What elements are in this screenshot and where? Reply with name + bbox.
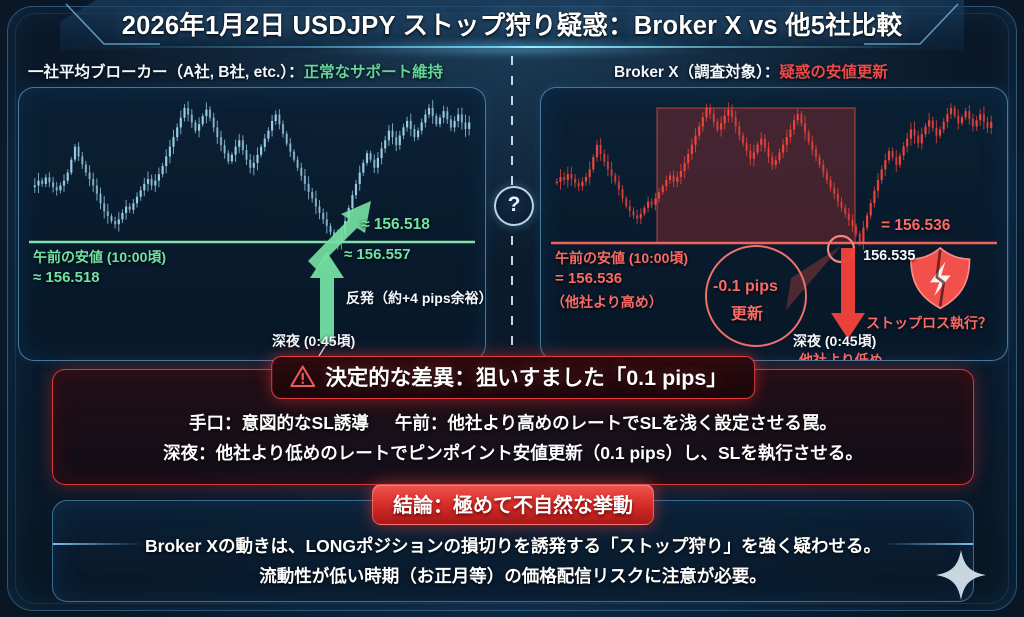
candle-body — [413, 129, 415, 137]
candle-body — [830, 180, 832, 188]
candle-body — [556, 182, 558, 184]
candle-body — [132, 203, 134, 210]
candle-body — [884, 160, 886, 169]
candle-body — [202, 116, 204, 124]
right-break-value: 156.535 — [863, 248, 915, 264]
candle-body — [837, 194, 839, 202]
candle-body — [913, 130, 915, 136]
candle-body — [782, 145, 784, 153]
right-magnifier-line1: -0.1 pips — [713, 278, 778, 296]
candle-body — [318, 207, 320, 214]
candle-body — [713, 114, 715, 122]
candle-body — [749, 151, 751, 159]
candle-body — [45, 177, 47, 184]
candle-body — [840, 202, 842, 208]
candle-body — [267, 131, 269, 139]
candle-body — [764, 139, 766, 148]
candle-body — [129, 207, 131, 210]
alert-body-line-1: 手口：意図的なSL誘導午前：他社より高めのレートでSLを浅く設定させる罠。 — [53, 410, 973, 435]
candle-body — [194, 123, 196, 131]
candle-body — [446, 111, 448, 119]
candle-body — [979, 114, 981, 120]
candle-body — [866, 215, 868, 227]
candle-body — [939, 130, 941, 136]
candle-body — [705, 108, 707, 117]
candle-body — [286, 134, 288, 144]
candle-body — [282, 124, 284, 134]
right-midnight-label: 深夜 (0:45頃) — [793, 331, 876, 351]
candle-body — [859, 234, 861, 243]
candle-body — [439, 118, 441, 125]
candle-body — [52, 182, 54, 187]
candle-body — [928, 120, 930, 126]
candle-body — [567, 174, 569, 180]
candle-body — [771, 157, 773, 165]
candle-body — [793, 120, 795, 129]
candle-body — [432, 108, 434, 116]
candle-body — [800, 114, 802, 123]
key-difference-text: 決定的な差異：狙いすました「0.1 pips」 — [325, 361, 728, 392]
candle-body — [235, 147, 237, 155]
infographic-root: 2026年1月2日 USDJPY ストップ狩り疑惑：Broker X vs 他5… — [0, 0, 1024, 617]
candle-body — [359, 173, 361, 184]
candle-body — [421, 123, 423, 131]
candle-body — [669, 176, 671, 181]
candle-body — [709, 108, 711, 114]
candle-body — [570, 174, 572, 179]
candle-body — [143, 184, 145, 191]
candle-body — [851, 220, 853, 226]
candle-body — [742, 136, 744, 144]
candle-body — [976, 120, 978, 126]
candle-body — [231, 155, 233, 162]
left-panel-caption: 一社平均ブローカー（A社, B社, etc.）：正常なサポート維持 — [28, 60, 443, 82]
right-chart-area: 午前の安値 (10:00頃) = 156.536 （他社より高め） = 156.… — [541, 88, 1007, 360]
candle-body — [154, 181, 156, 186]
candle-body — [684, 163, 686, 171]
title-bar: 2026年1月2日 USDJPY ストップ狩り疑惑：Broker X vs 他5… — [0, 0, 1024, 52]
candle-body — [140, 190, 142, 197]
right-magnifier-line2: 更新 — [731, 300, 763, 324]
candle-body — [822, 165, 824, 173]
candle-body — [41, 181, 43, 184]
candle-body — [315, 198, 317, 206]
candle-body — [574, 179, 576, 184]
candle-body — [406, 121, 408, 128]
candle-body — [249, 160, 251, 168]
candle-body — [37, 181, 39, 186]
candle-body — [468, 123, 470, 130]
candle-body — [592, 157, 594, 169]
candle-body — [464, 123, 466, 130]
candle-body — [778, 153, 780, 161]
candle-body — [103, 203, 105, 211]
candle-body — [110, 216, 112, 221]
candle-body — [702, 117, 704, 126]
candle-body — [954, 108, 956, 116]
conclusion-line-2: 流動性が低い時期（お正月等）の価格配信リスクに注意が必要。 — [53, 563, 973, 588]
candle-body — [716, 122, 718, 130]
candle-body — [877, 180, 879, 191]
candle-body — [625, 199, 627, 207]
chart-panel-average-broker: 午前の安値 (10:00頃) ≈ 156.518 ≈ 156.518 ≈ 156… — [18, 87, 486, 361]
candle-body — [326, 219, 328, 226]
candle-body — [96, 186, 98, 194]
candle-body — [205, 110, 207, 117]
candle-body — [607, 162, 609, 170]
candle-body — [757, 145, 759, 153]
candle-body — [983, 114, 985, 122]
candle-body — [804, 123, 806, 132]
candle-body — [662, 186, 664, 192]
candle-body — [213, 118, 215, 128]
candle-body — [81, 156, 83, 164]
alert-body-line-2: 深夜：他社より低めのレートでピンポイント安値更新（0.1 pips）し、SLを執… — [53, 440, 973, 465]
candle-body — [924, 126, 926, 134]
question-mark-badge: ? — [494, 186, 534, 226]
candle-body — [176, 127, 178, 137]
candle-body — [242, 140, 244, 150]
candle-body — [961, 117, 963, 123]
candle-body — [260, 147, 262, 155]
warning-triangle-icon — [290, 365, 315, 388]
candle-body — [443, 111, 445, 118]
candle-body — [687, 154, 689, 163]
candle-body — [935, 128, 937, 136]
right-support-label-line1: 午前の安値 (10:00頃) — [555, 248, 688, 268]
candle-body — [391, 131, 393, 138]
candle-body — [300, 168, 302, 176]
title-underline — [110, 46, 914, 48]
conclusion-pill: 結論：極めて不自然な挙動 — [372, 484, 654, 525]
candle-body — [629, 206, 631, 211]
candle-body — [85, 165, 87, 173]
candle-body — [118, 219, 120, 224]
candle-body — [727, 110, 729, 116]
candle-body — [151, 179, 153, 186]
candle-body — [746, 143, 748, 151]
candle-body — [596, 145, 598, 157]
candle-body — [819, 157, 821, 165]
candle-body — [136, 197, 138, 204]
candle-body — [238, 140, 240, 147]
candle-body — [990, 122, 992, 128]
alert-body-line-1b: 午前：他社より高めのレートでSLを浅く設定させる罠。 — [395, 413, 837, 433]
candle-body — [169, 147, 171, 157]
candle-body — [147, 179, 149, 184]
candle-body — [833, 188, 835, 194]
candle-body — [107, 211, 109, 216]
sparkle-icon — [934, 548, 988, 602]
candle-body — [417, 131, 419, 138]
candle-body — [125, 207, 127, 214]
candle-body — [78, 147, 80, 157]
candle-body — [395, 137, 397, 145]
candle-body — [611, 169, 613, 175]
candle-body — [855, 226, 857, 234]
left-level-right-value: ≈ 156.518 — [361, 216, 430, 234]
candle-body — [158, 174, 160, 181]
left-chart-area: 午前の安値 (10:00頃) ≈ 156.518 ≈ 156.518 ≈ 156… — [19, 88, 485, 360]
candle-body — [589, 169, 591, 177]
candle-body — [691, 145, 693, 154]
right-support-label-line2: = 156.536 — [555, 270, 622, 287]
candle-body — [600, 145, 602, 154]
candle-body — [187, 108, 189, 115]
candle-body — [454, 121, 456, 128]
candle-body — [172, 137, 174, 147]
right-magnifier-cone — [786, 246, 841, 310]
candle-body — [121, 213, 123, 220]
right-panel-caption: Broker X（調査対象）：疑惑の安値更新 — [614, 60, 888, 82]
candle-body — [366, 153, 368, 163]
title-glow — [300, 40, 724, 56]
candle-body — [70, 160, 72, 173]
right-caption-main: Broker X（調査対象）： — [614, 64, 779, 81]
candle-body — [585, 177, 587, 182]
candle-body — [844, 208, 846, 214]
candle-body — [67, 173, 69, 181]
candle-body — [48, 177, 50, 182]
candle-body — [618, 182, 620, 190]
candle-body — [322, 213, 324, 220]
candle-body — [34, 186, 36, 188]
candle-body — [264, 139, 266, 147]
candle-body — [654, 199, 656, 205]
candle-body — [435, 116, 437, 124]
candle-body — [256, 155, 258, 163]
candle-body — [665, 180, 667, 186]
candle-body — [724, 116, 726, 124]
candle-body — [621, 189, 623, 198]
candle-body — [738, 126, 740, 135]
candle-body — [289, 144, 291, 152]
candle-body — [216, 127, 218, 137]
right-broken-shield-icon — [911, 248, 969, 308]
candle-body — [381, 148, 383, 158]
candle-body — [943, 122, 945, 130]
candle-body — [848, 214, 850, 220]
candle-body — [643, 208, 645, 214]
candle-body — [424, 115, 426, 123]
left-caption-main: 一社平均ブローカー（A社, B社, etc.）： — [28, 64, 304, 81]
candle-body — [180, 118, 182, 128]
candle-body — [275, 115, 277, 122]
candle-body — [972, 119, 974, 127]
left-midnight-label: 深夜 (0:45頃) — [272, 331, 355, 351]
candle-body — [932, 120, 934, 128]
candle-body — [384, 140, 386, 148]
page-title: 2026年1月2日 USDJPY ストップ狩り疑惑：Broker X vs 他5… — [0, 5, 1024, 42]
candle-body — [614, 176, 616, 182]
candle-body — [563, 177, 565, 180]
candle-body — [720, 123, 722, 129]
candle-body — [965, 111, 967, 117]
right-midnight-note: 他社より低め — [799, 350, 883, 361]
right-level-right-value: = 156.536 — [881, 217, 950, 235]
candle-body — [917, 136, 919, 144]
candle-body — [811, 142, 813, 150]
candle-body — [903, 146, 905, 155]
left-support-label-line1: 午前の安値 (10:00頃) — [33, 247, 166, 267]
candle-body — [224, 145, 226, 153]
conclusion-line-1: Broker Xの動きは、LONGポジションの損切りを誘発する「ストップ狩り」を… — [53, 533, 973, 558]
candle-body — [293, 152, 295, 160]
candle-body — [647, 202, 649, 208]
alert-body-line-1a: 手口：意図的なSL誘導 — [189, 413, 369, 433]
candle-body — [921, 134, 923, 143]
candle-body — [308, 184, 310, 192]
candle-body — [753, 153, 755, 159]
key-difference-pill: 決定的な差異：狙いすました「0.1 pips」 — [271, 356, 755, 399]
candle-body — [578, 183, 580, 186]
candle-body — [220, 137, 222, 145]
candle-body — [673, 176, 675, 182]
key-difference-alert-box: 決定的な差異：狙いすました「0.1 pips」 手口：意図的なSL誘導午前：他社… — [52, 369, 974, 485]
candle-body — [402, 127, 404, 135]
candle-body — [183, 108, 185, 118]
left-bounce-note: 反発（約+4 pips余裕） — [346, 288, 486, 308]
candle-body — [253, 163, 255, 168]
candle-body — [457, 115, 459, 122]
candle-body — [640, 214, 642, 219]
candle-body — [786, 137, 788, 145]
candle-body — [946, 114, 948, 122]
candle-body — [74, 147, 76, 160]
candle-body — [56, 187, 58, 190]
candle-body — [428, 108, 430, 115]
right-caption-accent: 疑惑の安値更新 — [779, 64, 888, 81]
candle-body — [986, 122, 988, 128]
left-caption-accent: 正常なサポート維持 — [304, 64, 444, 81]
candle-body — [870, 203, 872, 215]
candle-body — [899, 156, 901, 165]
candle-body — [888, 151, 890, 160]
candle-body — [373, 160, 375, 168]
candle-body — [114, 221, 116, 224]
right-support-label-line3: （他社より高め） — [551, 292, 663, 312]
candle-body — [278, 115, 280, 125]
candle-body — [767, 148, 769, 157]
candle-body — [680, 171, 682, 177]
candle-body — [636, 215, 638, 218]
candle-body — [311, 192, 313, 199]
candle-body — [165, 156, 167, 166]
candle-body — [370, 153, 372, 160]
left-support-label-line2: ≈ 156.518 — [33, 269, 100, 286]
candle-body — [775, 160, 777, 165]
candle-body — [950, 108, 952, 114]
candle-body — [92, 179, 94, 186]
candle-body — [895, 157, 897, 165]
candle-body — [388, 131, 390, 141]
candle-body — [808, 133, 810, 142]
candle-body — [826, 172, 828, 180]
candle-body — [99, 194, 101, 204]
right-highlight-region — [657, 108, 855, 243]
candle-body — [957, 116, 959, 124]
candle-body — [271, 121, 273, 131]
candle-body — [410, 121, 412, 129]
candle-body — [63, 181, 65, 186]
candle-body — [351, 195, 353, 208]
candle-body — [59, 186, 61, 191]
candle-body — [399, 135, 401, 145]
candle-body — [760, 139, 762, 145]
candle-body — [797, 114, 799, 120]
candle-body — [198, 124, 200, 131]
candle-body — [227, 153, 229, 161]
candle-body — [304, 176, 306, 184]
candle-body — [815, 149, 817, 157]
candle-body — [731, 110, 733, 118]
chart-panel-broker-x: 午前の安値 (10:00頃) = 156.536 （他社より高め） = 156.… — [540, 87, 1008, 361]
left-bounce-value: ≈ 156.557 — [344, 246, 411, 263]
candle-body — [377, 158, 379, 168]
candle-body — [362, 163, 364, 173]
candle-body — [968, 111, 970, 119]
candle-body — [892, 151, 894, 157]
candle-body — [450, 119, 452, 127]
candle-body — [461, 115, 463, 123]
candle-body — [735, 117, 737, 126]
candle-body — [906, 139, 908, 147]
candle-body — [191, 115, 193, 123]
right-shield-label: ストップロス執行？ — [866, 313, 992, 333]
candle-body — [209, 110, 211, 118]
candle-body — [559, 177, 561, 182]
candle-body — [162, 166, 164, 174]
conclusion-box: 結論：極めて不自然な挙動 Broker Xの動きは、LONGポジションの損切りを… — [52, 500, 974, 602]
candle-body — [89, 173, 91, 180]
candle-body — [676, 177, 678, 182]
candle-body — [698, 126, 700, 135]
candle-body — [651, 202, 653, 205]
candle-body — [658, 192, 660, 198]
candle-body — [603, 154, 605, 162]
candle-body — [862, 228, 864, 243]
candle-body — [329, 226, 331, 233]
candle-body — [873, 191, 875, 203]
candle-body — [632, 211, 634, 216]
candle-body — [881, 169, 883, 180]
candle-body — [694, 136, 696, 145]
candle-body — [245, 150, 247, 160]
candle-body — [297, 160, 299, 168]
candle-body — [910, 130, 912, 139]
candle-body — [355, 184, 357, 195]
candle-body — [581, 182, 583, 187]
candle-body — [789, 130, 791, 138]
